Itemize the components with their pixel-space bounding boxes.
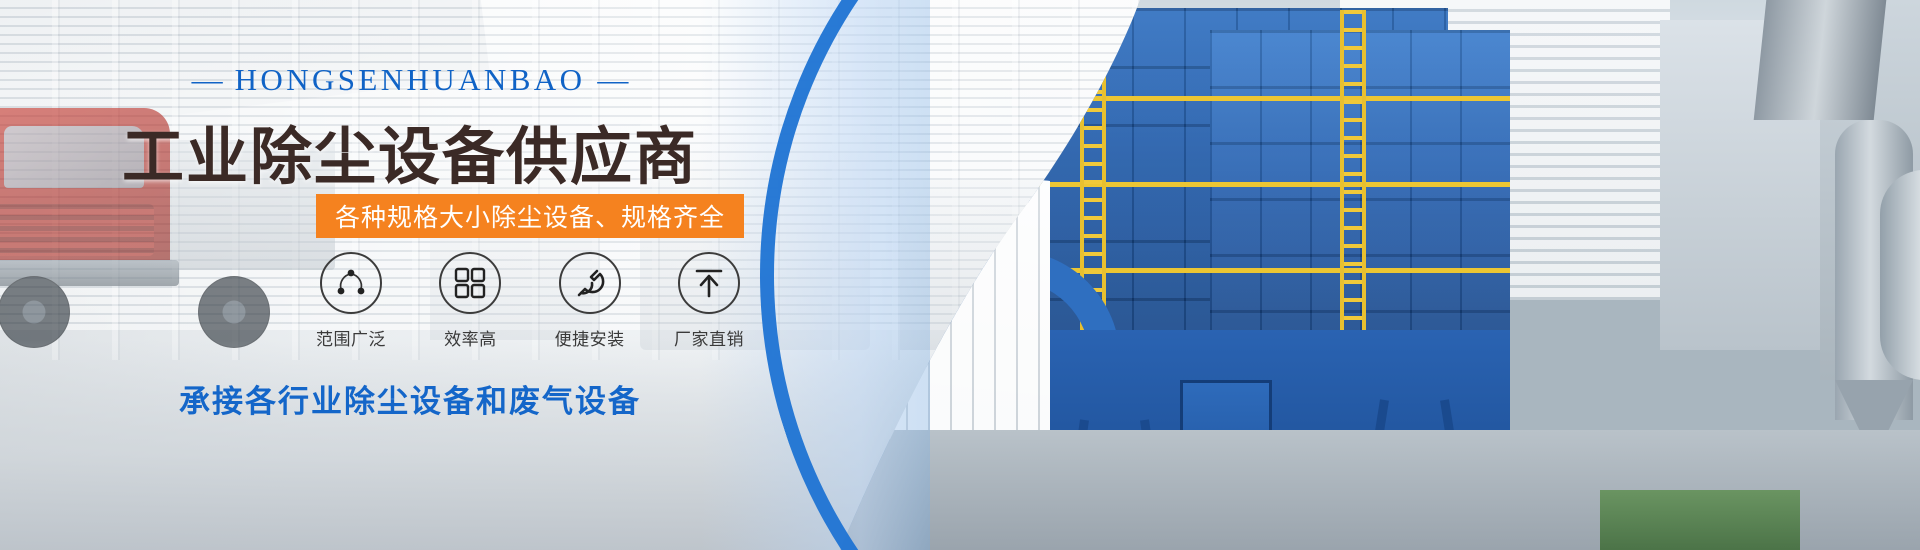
metal-duct-upper xyxy=(1754,0,1887,120)
feature-label-3: 便捷安装 xyxy=(539,325,641,350)
eyebrow-dash-right: — xyxy=(585,62,640,97)
page-title: 工业除尘设备供应商 xyxy=(0,106,820,196)
brand-eyebrow: —HONGSENHUANBAO— xyxy=(0,62,820,98)
grid-squares-icon xyxy=(453,266,487,300)
feature-icon-circle-3 xyxy=(559,252,621,314)
greenery xyxy=(1600,490,1800,550)
wrench-icon xyxy=(572,265,608,301)
feature-list: 范围广泛 效率高 xyxy=(300,252,760,362)
eyebrow-text: HONGSENHUANBAO xyxy=(235,62,586,97)
feature-icon-circle-1 xyxy=(320,252,382,314)
tagline: 承接各行业除尘设备和废气设备 xyxy=(0,376,820,421)
feature-item-4[interactable]: 厂家直销 xyxy=(658,252,760,362)
hero-banner: —HONGSENHUANBAO— 工业除尘设备供应商 各种规格大小除尘设备、规格… xyxy=(0,0,1920,550)
subtitle-text: 各种规格大小除尘设备、规格齐全 xyxy=(335,198,725,234)
feature-label-4: 厂家直销 xyxy=(658,325,760,350)
feature-icon-circle-2 xyxy=(439,252,501,314)
feature-label-2: 效率高 xyxy=(419,325,521,350)
network-nodes-icon xyxy=(333,265,369,301)
feature-icon-circle-4 xyxy=(678,252,740,314)
feature-label-1: 范围广泛 xyxy=(300,325,402,350)
arrow-up-bar-icon xyxy=(692,266,726,300)
yellow-ladder-right xyxy=(1340,10,1366,340)
banner-content: —HONGSENHUANBAO— 工业除尘设备供应商 各种规格大小除尘设备、规格… xyxy=(0,0,820,550)
feature-item-1[interactable]: 范围广泛 xyxy=(300,252,402,362)
eyebrow-dash-left: — xyxy=(180,62,235,97)
subtitle-orange-bar: 各种规格大小除尘设备、规格齐全 xyxy=(316,194,744,238)
metal-duct-right xyxy=(1880,170,1920,380)
feature-item-3[interactable]: 便捷安装 xyxy=(539,252,641,362)
feature-item-2[interactable]: 效率高 xyxy=(419,252,521,362)
